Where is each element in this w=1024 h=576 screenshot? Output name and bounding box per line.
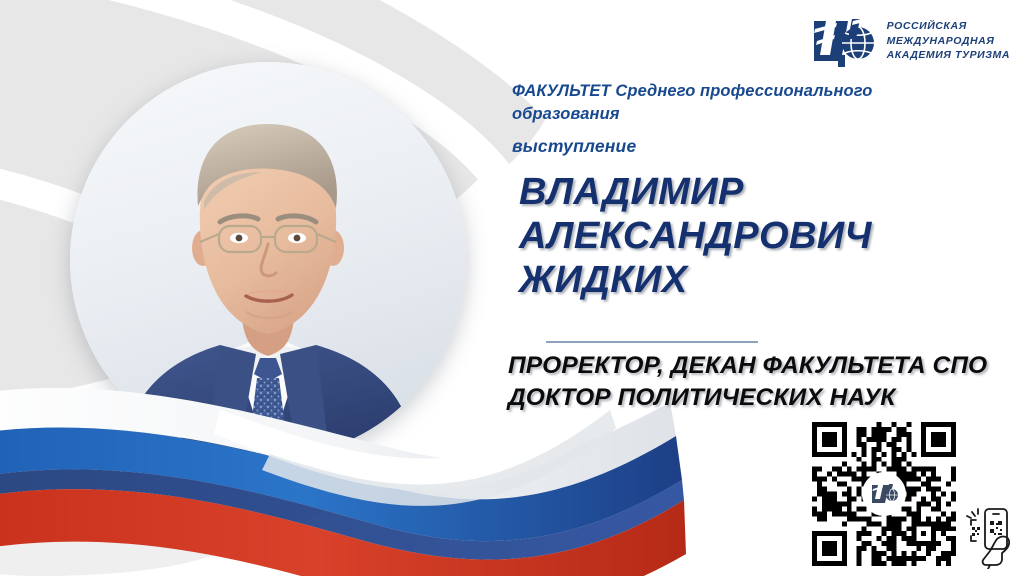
speaker-role-line-1: ПРОРЕКТОР, ДЕКАН ФАКУЛЬТЕТА СПО [508,350,1008,382]
speaker-role-line-2: ДОКТОР ПОЛИТИЧЕСКИХ НАУК [508,382,1008,414]
rmat-monogram-icon [869,482,899,506]
speaker-patronymic: АЛЕКСАНДРОВИЧ [519,214,982,258]
faculty-prefix: ФАКУЛЬТЕТ [512,82,611,100]
rmat-monogram-globe-icon [808,13,876,69]
faculty-line-2: образования [512,103,982,126]
speaker-full-name: ВЛАДИМИР АЛЕКСАНДРОВИЧ ЖИДКИХ [519,170,982,302]
qr-center-logo [862,472,906,516]
speaker-role-block: ПРОРЕКТОР, ДЕКАН ФАКУЛЬТЕТА СПО ДОКТОР П… [508,350,1008,415]
hand-holding-phone-scanning-qr-icon [966,503,1018,569]
portrait-image [70,62,466,458]
logo-line-2: МЕЖДУНАРОДНАЯ [887,34,1010,49]
speaker-first-name: ВЛАДИМИР [519,170,982,214]
organization-logo: РОССИЙСКАЯ МЕЖДУНАРОДНАЯ АКАДЕМИЯ ТУРИЗМ… [808,13,1010,69]
presentation-slide: РОССИЙСКАЯ МЕЖДУНАРОДНАЯ АКАДЕМИЯ ТУРИЗМ… [0,0,1024,576]
logo-line-1: РОССИЙСКАЯ [887,19,1010,34]
event-type-label: выступление [512,136,982,157]
qr-code[interactable] [812,422,956,566]
title-divider [546,341,758,343]
logo-line-3: АКАДЕМИЯ ТУРИЗМА [887,48,1010,63]
speaker-last-name: ЖИДКИХ [519,258,982,302]
speaker-portrait [70,62,466,458]
portrait-illustration [70,62,466,458]
faculty-rest: Среднего профессионального [611,82,873,100]
organization-name: РОССИЙСКАЯ МЕЖДУНАРОДНАЯ АКАДЕМИЯ ТУРИЗМ… [887,19,1010,64]
speaker-text-block: ФАКУЛЬТЕТ Среднего профессионального обр… [512,80,982,302]
faculty-label: ФАКУЛЬТЕТ Среднего профессионального обр… [512,80,982,127]
